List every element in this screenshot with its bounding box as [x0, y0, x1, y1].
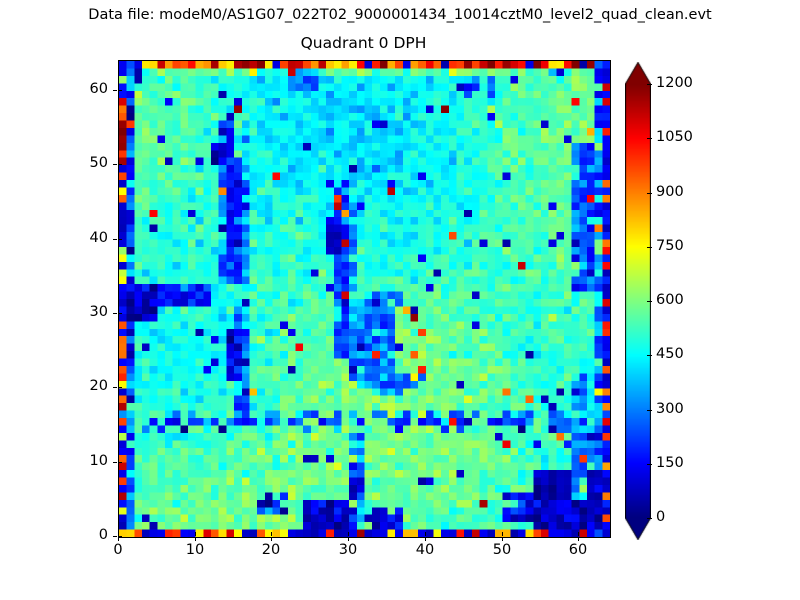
y-tick-mark-inner [118, 536, 122, 537]
y-tick-mark [113, 239, 117, 240]
y-tick-mark [113, 90, 117, 91]
colorbar-tick-mark [647, 410, 652, 411]
colorbar-tick-label: 750 [656, 238, 684, 255]
x-tick-label: 20 [251, 542, 291, 559]
colorbar-tick-mark [647, 84, 652, 85]
x-tick-mark-inner [195, 532, 196, 536]
x-tick-mark-inner [425, 532, 426, 536]
y-tick-mark [113, 536, 117, 537]
x-tick-mark [578, 537, 579, 541]
x-tick-mark [118, 537, 119, 541]
y-tick-mark-inner [118, 239, 122, 240]
x-tick-mark [195, 537, 196, 541]
colorbar-tick-label: 900 [656, 184, 684, 201]
x-tick-label: 50 [482, 542, 522, 559]
colorbar-tick-label: 0 [656, 509, 665, 526]
heatmap-axes [118, 60, 611, 538]
x-tick-mark-inner [271, 532, 272, 536]
x-tick-mark-inner [578, 532, 579, 536]
y-tick-label: 40 [78, 230, 108, 247]
colorbar-tick-mark [647, 138, 652, 139]
x-tick-label: 10 [175, 542, 215, 559]
y-tick-mark-inner [118, 387, 122, 388]
colorbar-tick-mark [647, 518, 652, 519]
x-tick-label: 0 [98, 542, 138, 559]
figure-canvas: Data file: modeM0/AS1G07_022T02_90000014… [0, 0, 800, 600]
heatmap-image [119, 61, 610, 537]
x-tick-mark [425, 537, 426, 541]
y-tick-label: 10 [78, 453, 108, 470]
x-tick-mark [348, 537, 349, 541]
colorbar-tick-mark [647, 247, 652, 248]
y-tick-mark [113, 164, 117, 165]
y-tick-mark [113, 462, 117, 463]
colorbar-tick-mark [647, 193, 652, 194]
x-tick-label: 40 [405, 542, 445, 559]
y-tick-label: 30 [78, 304, 108, 321]
x-tick-mark-inner [348, 532, 349, 536]
colorbar-tick-label: 1050 [656, 129, 693, 146]
y-tick-mark-inner [118, 164, 122, 165]
x-tick-label: 30 [328, 542, 368, 559]
colorbar-tick-mark [647, 464, 652, 465]
x-tick-mark-inner [502, 532, 503, 536]
colorbar-tick-label: 1200 [656, 75, 693, 92]
y-tick-mark-inner [118, 90, 122, 91]
y-tick-mark [113, 387, 117, 388]
colorbar-tick-label: 150 [656, 455, 684, 472]
x-tick-label: 60 [558, 542, 598, 559]
x-tick-mark [502, 537, 503, 541]
y-tick-label: 60 [78, 81, 108, 98]
y-tick-mark-inner [118, 462, 122, 463]
plot-title: Quadrant 0 DPH [118, 33, 609, 53]
y-tick-mark-inner [118, 313, 122, 314]
colorbar-tick-label: 450 [656, 346, 684, 363]
colorbar-tick-label: 600 [656, 292, 684, 309]
y-tick-label: 20 [78, 378, 108, 395]
colorbar-tick-label: 300 [656, 401, 684, 418]
y-tick-mark [113, 313, 117, 314]
colorbar-tick-mark [647, 355, 652, 356]
y-tick-label: 50 [78, 155, 108, 172]
y-tick-label: 0 [78, 527, 108, 544]
data-file-suptitle: Data file: modeM0/AS1G07_022T02_90000014… [0, 6, 800, 24]
colorbar-tick-mark [647, 301, 652, 302]
x-tick-mark [271, 537, 272, 541]
